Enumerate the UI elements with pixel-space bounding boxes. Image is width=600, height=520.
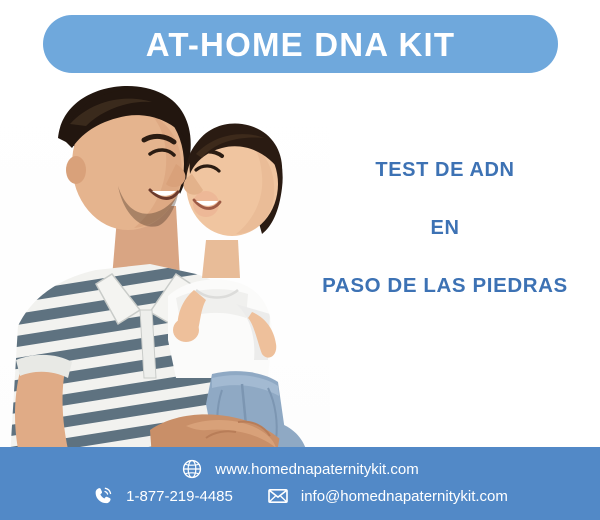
promo-card: AT-HOME DNA KIT xyxy=(0,0,600,520)
website-contact-item[interactable]: www.homednapaternitykit.com xyxy=(181,458,418,480)
headline-line-connector: EN xyxy=(290,218,600,238)
envelope-icon xyxy=(267,485,289,507)
globe-icon xyxy=(181,458,203,480)
father-and-child-illustration xyxy=(0,78,330,458)
email-contact-item[interactable]: info@homednapaternitykit.com xyxy=(267,485,508,507)
headline-block: TEST DE ADN EN PASO DE LAS PIEDRAS xyxy=(290,160,600,297)
page-title: AT-HOME DNA KIT xyxy=(146,28,455,61)
website-label: www.homednapaternitykit.com xyxy=(215,462,418,477)
family-photo xyxy=(0,78,330,458)
phone-icon xyxy=(92,485,114,507)
phone-contact-item[interactable]: 1-877-219-4485 xyxy=(92,485,233,507)
email-label: info@homednapaternitykit.com xyxy=(301,489,508,504)
contact-footer: www.homednapaternitykit.com 1-877-219-44… xyxy=(0,447,600,520)
phone-label: 1-877-219-4485 xyxy=(126,489,233,504)
footer-website-row: www.homednapaternitykit.com xyxy=(0,458,600,480)
headline-line-location: PASO DE LAS PIEDRAS xyxy=(290,276,600,297)
headline-line-service: TEST DE ADN xyxy=(290,160,600,180)
header-banner: AT-HOME DNA KIT xyxy=(43,15,558,73)
footer-contact-row: 1-877-219-4485 info@homednapaternitykit.… xyxy=(0,485,600,507)
